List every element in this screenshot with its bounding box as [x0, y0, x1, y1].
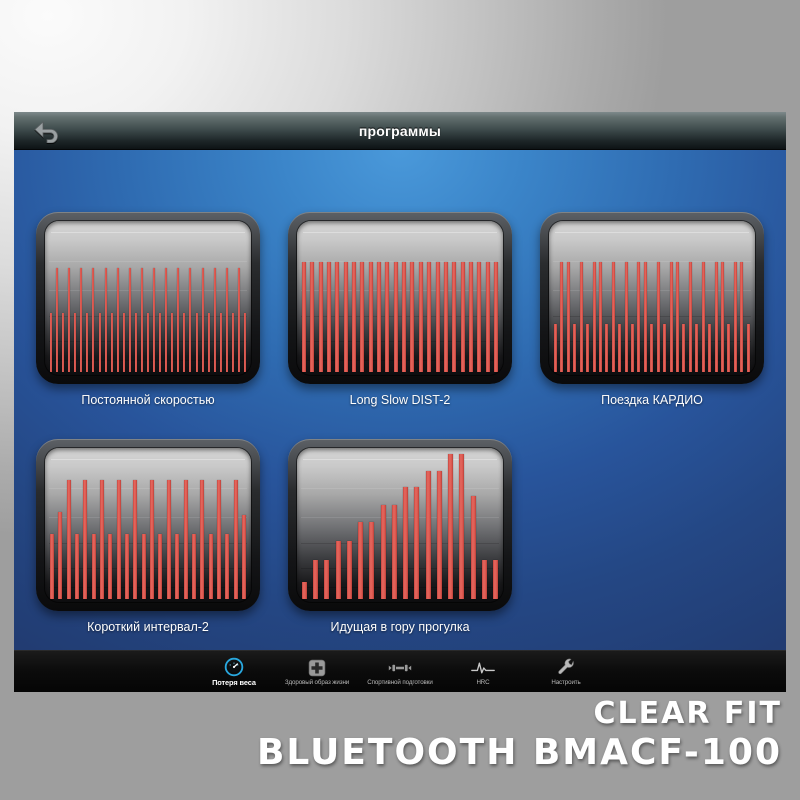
- chart-bar: [313, 560, 318, 599]
- chart-bar: [727, 324, 730, 372]
- dumbbell-icon: [388, 658, 412, 678]
- chart-bar: [650, 324, 653, 372]
- chart-bar: [586, 324, 589, 372]
- program-card[interactable]: Постоянной скоростью: [36, 212, 260, 407]
- chart-bar: [167, 480, 171, 599]
- toolbar-item-speedometer[interactable]: Потеря веса: [193, 651, 276, 693]
- chart-bar: [734, 262, 737, 372]
- chart-bar: [86, 313, 88, 372]
- program-card[interactable]: Long Slow DIST-2: [288, 212, 512, 407]
- chart-bars: [50, 227, 246, 372]
- chart-bar: [676, 262, 679, 372]
- chart-bar: [135, 313, 137, 372]
- chart-bar: [560, 262, 563, 372]
- program-card-thumb[interactable]: [288, 212, 512, 384]
- program-profile-chart: [45, 221, 251, 375]
- chart-bar: [360, 262, 364, 372]
- chart-bar: [100, 480, 104, 599]
- chart-bar: [192, 534, 196, 599]
- chart-bar: [214, 268, 216, 372]
- chart-bars: [302, 454, 498, 599]
- programs-area: Постоянной скоростьюLong Slow DIST-2Поез…: [14, 150, 786, 650]
- chart-bar: [83, 480, 87, 599]
- chart-bar: [67, 480, 71, 599]
- chart-bar: [403, 487, 408, 599]
- chart-bar: [327, 262, 331, 372]
- toolbar-item-dumbbell[interactable]: Спортивной подготовки: [359, 651, 442, 693]
- chart-bar: [695, 324, 698, 372]
- chart-bar: [670, 262, 673, 372]
- chart-bar: [459, 454, 464, 599]
- chart-bar: [56, 268, 58, 372]
- chart-bar: [310, 262, 314, 372]
- product-banner: CLEAR FIT BLUETOOTH BMACF-100: [0, 692, 800, 800]
- chart-bar: [631, 324, 634, 372]
- chart-bar: [153, 268, 155, 372]
- program-profile-chart: [297, 221, 503, 375]
- chart-bar: [238, 268, 240, 372]
- chart-bar: [344, 262, 348, 372]
- treadmill-console-screen: программы Постоянной скоростьюLong Slow …: [14, 112, 786, 692]
- chart-bar: [159, 313, 161, 372]
- chart-bar: [573, 324, 576, 372]
- program-card-thumb[interactable]: [540, 212, 764, 384]
- toolbar-item-label: Потеря веса: [212, 678, 256, 687]
- chart-bar: [142, 534, 146, 599]
- chart-bar: [747, 324, 750, 372]
- chart-bar: [689, 262, 692, 372]
- chart-bar: [721, 262, 724, 372]
- chart-bar: [448, 454, 453, 599]
- chart-bar: [567, 262, 570, 372]
- chart-bar: [208, 313, 210, 372]
- chart-bar: [50, 534, 54, 599]
- toolbar-item-health-cross[interactable]: Здоровый образ жизни: [276, 651, 359, 693]
- chart-bar: [657, 262, 660, 372]
- chart-bar: [381, 505, 386, 599]
- chart-bar: [129, 268, 131, 372]
- chart-bar: [426, 471, 431, 599]
- program-card-label: Постоянной скоростью: [36, 393, 260, 407]
- chart-bar: [125, 534, 129, 599]
- program-card-label: Идущая в гору прогулка: [288, 620, 512, 634]
- chart-bar: [644, 262, 647, 372]
- program-card[interactable]: Идущая в гору прогулка: [288, 439, 512, 634]
- chart-bars: [554, 227, 750, 372]
- chart-bar: [209, 534, 213, 599]
- chart-bar: [99, 313, 101, 372]
- chart-bar: [232, 313, 234, 372]
- chart-bar: [319, 262, 323, 372]
- chart-bar: [702, 262, 705, 372]
- screenshot-stage: программы Постоянной скоростьюLong Slow …: [0, 0, 800, 800]
- chart-bar: [141, 268, 143, 372]
- chart-bar: [377, 262, 381, 372]
- chart-bar: [493, 560, 498, 599]
- chart-bar: [217, 480, 221, 599]
- chart-bar: [394, 262, 398, 372]
- chart-bar: [202, 268, 204, 372]
- chart-bar: [183, 313, 185, 372]
- toolbar-item-label: Здоровый образ жизни: [285, 679, 349, 686]
- chart-bar: [123, 313, 125, 372]
- chart-bar: [486, 262, 490, 372]
- banner-model: BLUETOOTH BMACF-100: [0, 732, 782, 774]
- chart-bar: [471, 496, 476, 599]
- programs-grid: Постоянной скоростьюLong Slow DIST-2Поез…: [14, 150, 786, 650]
- chart-bar: [117, 268, 119, 372]
- program-card-thumb[interactable]: [288, 439, 512, 611]
- chart-bar: [347, 541, 352, 599]
- chart-bar: [637, 262, 640, 372]
- chart-bar: [150, 480, 154, 599]
- chart-bar: [158, 534, 162, 599]
- banner-brand: CLEAR FIT: [0, 692, 782, 732]
- chart-bar: [68, 268, 70, 372]
- chart-bar: [402, 262, 406, 372]
- chart-bar: [469, 262, 473, 372]
- program-card[interactable]: Короткий интервал-2: [36, 439, 260, 634]
- chart-bar: [410, 262, 414, 372]
- chart-bar: [352, 262, 356, 372]
- chart-bar: [358, 522, 363, 599]
- chart-bar: [58, 512, 62, 599]
- toolbar-item-label: Настроить: [551, 679, 580, 686]
- chart-bar: [612, 262, 615, 372]
- toolbar-item-heartbeat[interactable]: HRC: [442, 651, 525, 693]
- chart-bar: [196, 313, 198, 372]
- chart-bar: [244, 313, 246, 372]
- chart-bar: [133, 480, 137, 599]
- program-profile-chart: [297, 448, 503, 602]
- chart-bar: [175, 534, 179, 599]
- chart-bar: [171, 313, 173, 372]
- titlebar: программы: [14, 112, 786, 150]
- program-card-thumb[interactable]: [36, 439, 260, 611]
- chart-bar: [108, 534, 112, 599]
- chart-bar: [369, 262, 373, 372]
- chart-bar: [92, 268, 94, 372]
- chart-bar: [105, 268, 107, 372]
- chart-bar: [580, 262, 583, 372]
- chart-bar: [482, 560, 487, 599]
- program-card-thumb[interactable]: [36, 212, 260, 384]
- bottom-toolbar: Потеря весаЗдоровый образ жизниСпортивно…: [14, 650, 786, 692]
- chart-bar: [427, 262, 431, 372]
- wrench-icon: [557, 658, 576, 678]
- chart-bar: [392, 505, 397, 599]
- chart-bar: [369, 522, 374, 599]
- chart-bar: [62, 313, 64, 372]
- chart-bar: [419, 262, 423, 372]
- chart-bar: [225, 534, 229, 599]
- chart-bar: [242, 515, 246, 599]
- chart-bar: [599, 262, 602, 372]
- program-card[interactable]: Поездка КАРДИО: [540, 212, 764, 407]
- speedometer-icon: [224, 657, 244, 677]
- chart-bar: [494, 262, 498, 372]
- chart-bar: [414, 487, 419, 599]
- chart-bar: [117, 480, 121, 599]
- toolbar-item-label: Спортивной подготовки: [367, 679, 432, 686]
- chart-bar: [50, 313, 52, 372]
- chart-bar: [302, 582, 307, 599]
- chart-bar: [189, 268, 191, 372]
- chart-bar: [663, 324, 666, 372]
- chart-bar: [226, 268, 228, 372]
- health-cross-icon: [308, 658, 326, 678]
- chart-bar: [165, 268, 167, 372]
- chart-bar: [75, 534, 79, 599]
- toolbar-item-wrench[interactable]: Настроить: [525, 651, 608, 693]
- program-card-label: Long Slow DIST-2: [288, 393, 512, 407]
- toolbar-item-label: HRC: [476, 679, 489, 686]
- chart-bar: [444, 262, 448, 372]
- chart-bar: [111, 313, 113, 372]
- chart-bar: [302, 262, 306, 372]
- chart-bar: [477, 262, 481, 372]
- page-title: программы: [14, 112, 786, 150]
- chart-bar: [184, 480, 188, 599]
- chart-bars: [50, 454, 246, 599]
- chart-bar: [605, 324, 608, 372]
- chart-bar: [708, 324, 711, 372]
- chart-bar: [554, 324, 557, 372]
- heartbeat-icon: [471, 658, 495, 678]
- chart-bar: [177, 268, 179, 372]
- program-profile-chart: [45, 448, 251, 602]
- chart-bar: [324, 560, 329, 599]
- chart-bar: [220, 313, 222, 372]
- chart-bar: [618, 324, 621, 372]
- chart-bar: [715, 262, 718, 372]
- chart-bar: [80, 268, 82, 372]
- chart-bar: [682, 324, 685, 372]
- chart-bars: [302, 227, 498, 372]
- chart-bar: [437, 471, 442, 599]
- chart-bar: [234, 480, 238, 599]
- chart-bar: [740, 262, 743, 372]
- chart-bar: [436, 262, 440, 372]
- chart-bar: [335, 262, 339, 372]
- chart-bar: [147, 313, 149, 372]
- chart-bar: [200, 480, 204, 599]
- chart-bar: [74, 313, 76, 372]
- program-card-label: Поездка КАРДИО: [540, 393, 764, 407]
- chart-bar: [385, 262, 389, 372]
- chart-bar: [461, 262, 465, 372]
- chart-bar: [92, 534, 96, 599]
- program-card-label: Короткий интервал-2: [36, 620, 260, 634]
- chart-bar: [593, 262, 596, 372]
- program-profile-chart: [549, 221, 755, 375]
- chart-bar: [336, 541, 341, 599]
- chart-bar: [452, 262, 456, 372]
- chart-bar: [625, 262, 628, 372]
